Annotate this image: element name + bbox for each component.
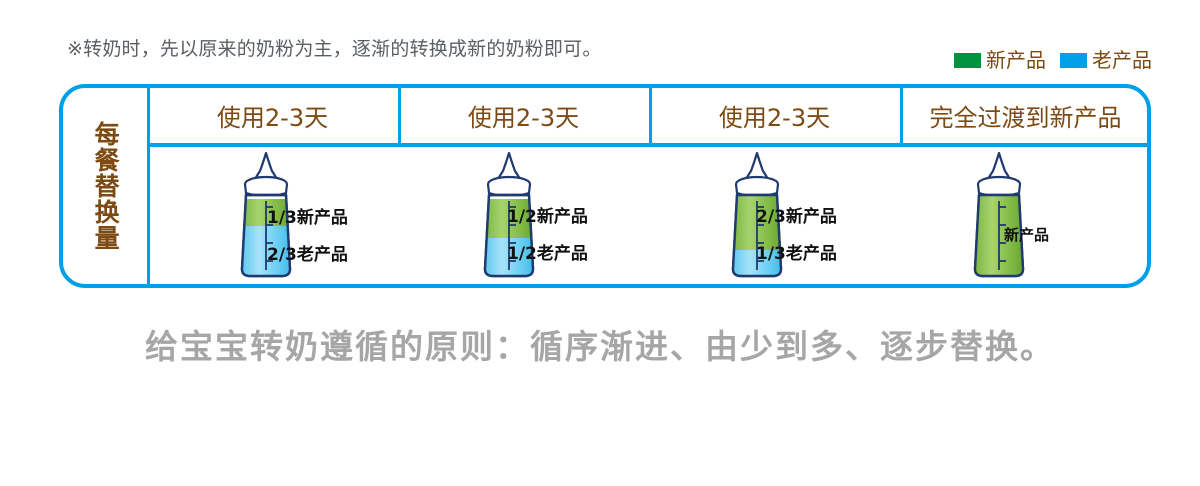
- column-header-label: 完全过渡到新产品: [930, 98, 1122, 133]
- annotation-new-fraction-step-1: 1/3新产品: [267, 210, 348, 227]
- transition-schedule-table: 每餐替换量 使用2-3天 使用2-3天 使用2-3天 完全过渡到新产品: [59, 84, 1151, 288]
- legend-item-new-product: 新产品: [954, 50, 1046, 70]
- bottle-cell-step-4: 新产品: [900, 147, 1151, 284]
- bottle-holder: 1/2新产品 1/2老产品: [398, 147, 649, 284]
- bottle-holder: 2/3新产品 1/3老产品: [649, 147, 900, 284]
- annotation-new-fraction-step-2: 1/2新产品: [507, 209, 588, 226]
- principle-caption: 给宝宝转奶遵循的原则：循序渐进、由少到多、逐步替换。: [0, 320, 1200, 368]
- annotation-new-fraction-step-3: 2/3新产品: [756, 209, 837, 226]
- column-header-step-1: 使用2-3天: [147, 88, 398, 143]
- legend: 新产品 老产品: [954, 50, 1152, 70]
- legend-label-new-product: 新产品: [986, 50, 1046, 70]
- transition-note-text: ※转奶时，先以原来的奶粉为主，逐渐的转换成新的奶粉即可。: [67, 34, 602, 61]
- annotation-old-fraction-step-3: 1/3老产品: [756, 246, 837, 263]
- annotation-old-fraction-step-1: 2/3老产品: [267, 247, 348, 264]
- column-header-label: 使用2-3天: [468, 98, 579, 133]
- green-square-swatch: [954, 53, 981, 68]
- column-header-step-2: 使用2-3天: [398, 88, 649, 143]
- column-header-step-4: 完全过渡到新产品: [900, 88, 1151, 143]
- bottle-illustration-step-4: [953, 149, 1045, 282]
- bottle-holder: 1/3新产品 2/3老产品: [147, 147, 398, 284]
- bottle-holder: 新产品: [900, 147, 1151, 284]
- bottle-cell-step-3: 2/3新产品 1/3老产品: [649, 147, 900, 284]
- column-header-label: 使用2-3天: [217, 98, 328, 133]
- legend-label-old-product: 老产品: [1092, 50, 1152, 70]
- column-header-step-3: 使用2-3天: [649, 88, 900, 143]
- annotation-old-fraction-step-2: 1/2老产品: [507, 246, 588, 263]
- row-label-text: 每餐替换量: [92, 121, 118, 251]
- row-label-cell: 每餐替换量: [63, 88, 147, 284]
- annotation-new-product-step-4: 新产品: [1004, 228, 1049, 243]
- bottle-cell-step-2: 1/2新产品 1/2老产品: [398, 147, 649, 284]
- bottle-cell-step-1: 1/3新产品 2/3老产品: [147, 147, 398, 284]
- blue-square-swatch: [1060, 53, 1087, 68]
- legend-item-old-product: 老产品: [1060, 50, 1152, 70]
- column-header-label: 使用2-3天: [719, 98, 830, 133]
